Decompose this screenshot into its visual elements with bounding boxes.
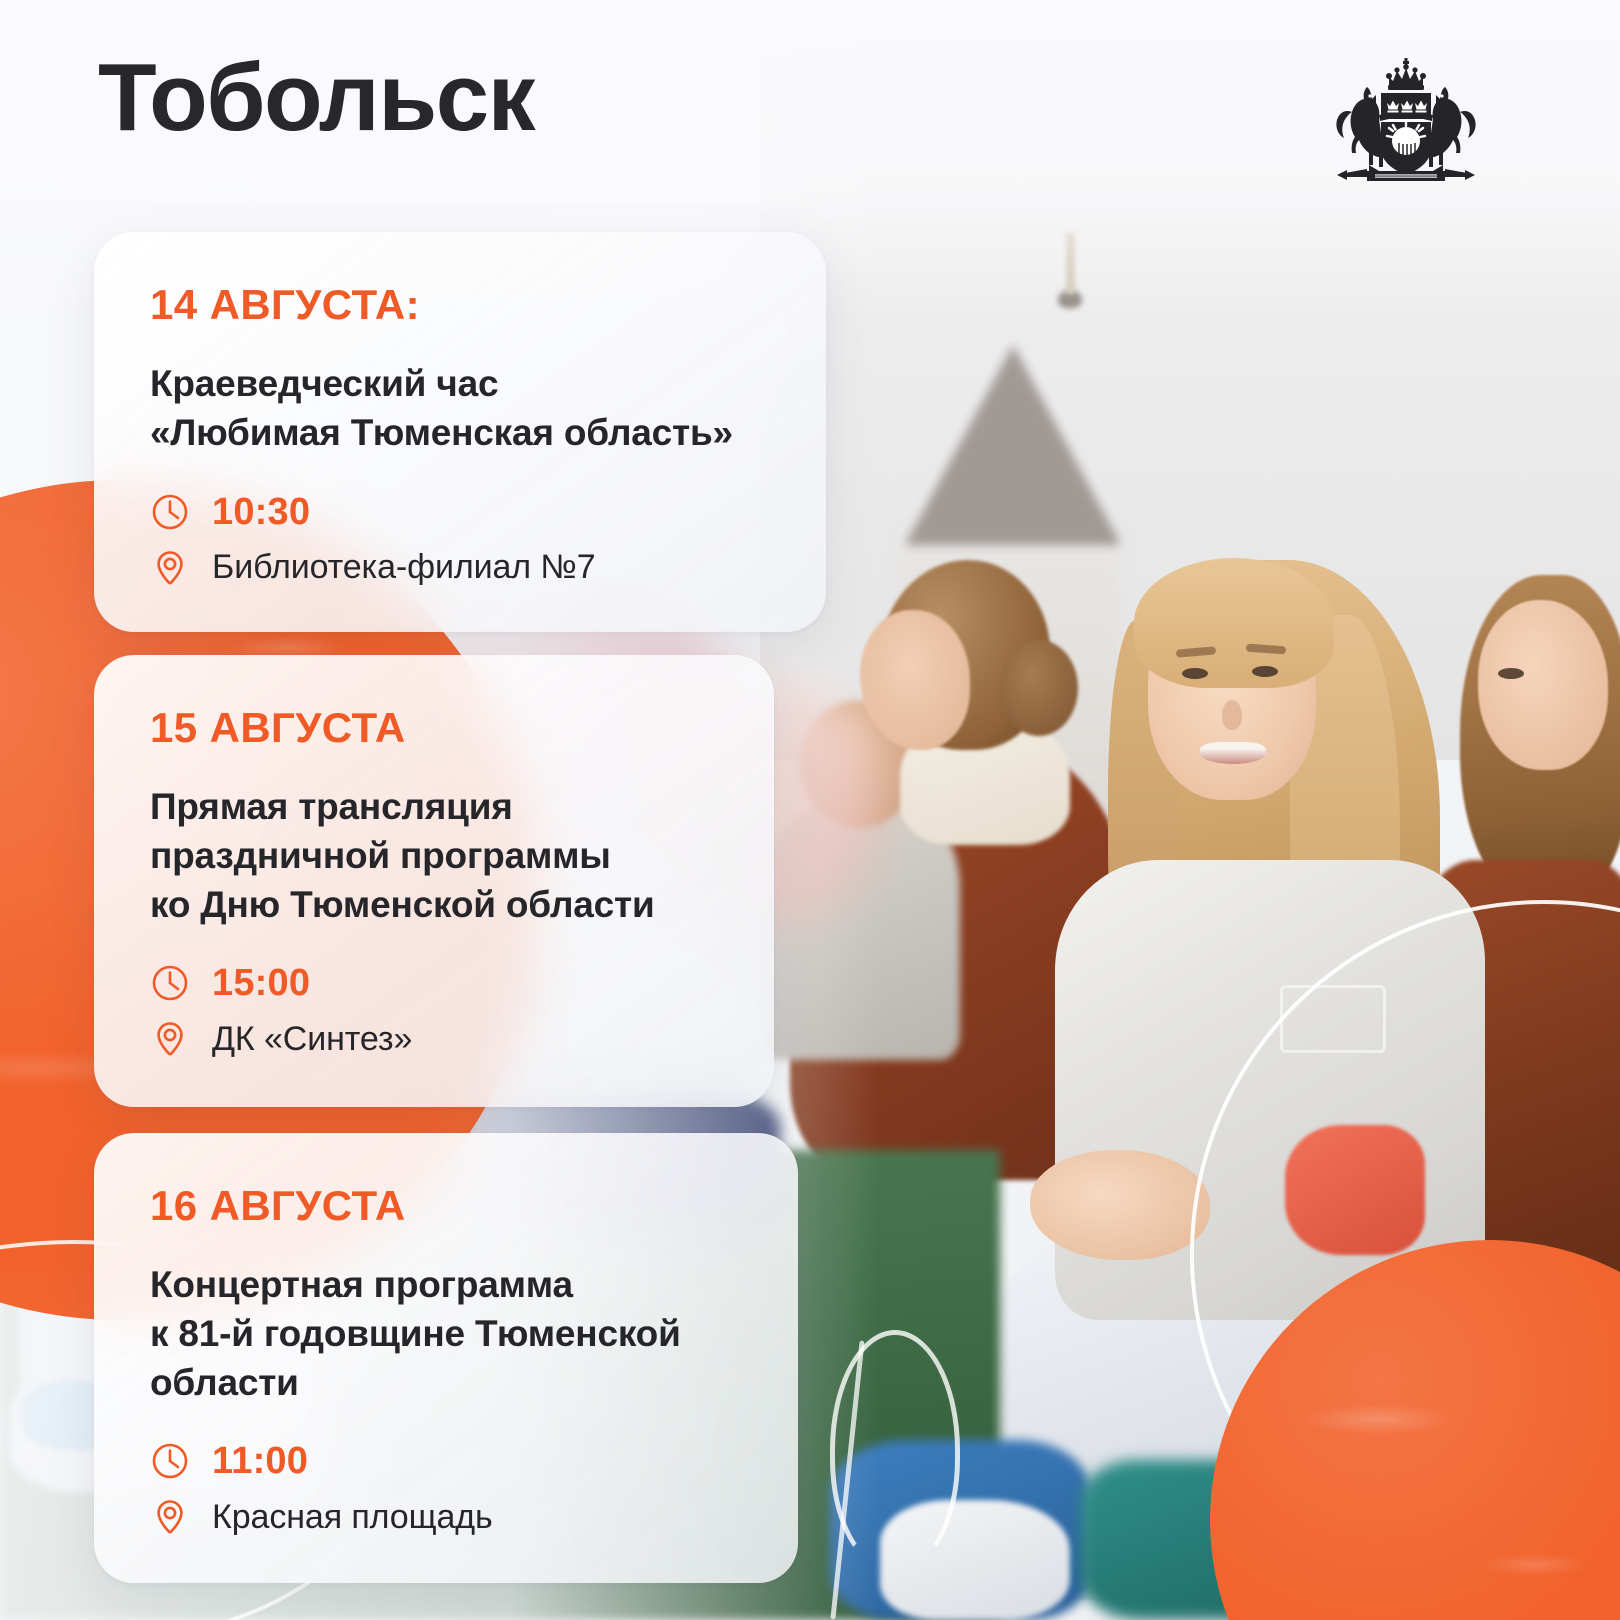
map-pin-icon (150, 1019, 190, 1059)
event-card[interactable]: 16 АВГУСТА Концертная программа к 81-й г… (94, 1133, 798, 1583)
event-title: Концертная программа к 81-й годовщине Тю… (150, 1261, 742, 1407)
event-place: ДК «Синтез» (212, 1020, 412, 1059)
clock-icon (150, 1441, 190, 1481)
clock-icon (150, 963, 190, 1003)
poster-root: Тобольск (0, 0, 1620, 1620)
event-time: 15:00 (212, 964, 310, 1002)
coat-of-arms-tyumen-oblast (1327, 57, 1485, 189)
event-date: 15 АВГУСТА (150, 707, 718, 749)
event-place-row: ДК «Синтез» (150, 1019, 718, 1059)
event-card[interactable]: 14 АВГУСТА: Краеведческий час «Любимая Т… (94, 232, 826, 632)
event-time-row: 11:00 (150, 1441, 742, 1481)
event-time-row: 15:00 (150, 963, 718, 1003)
event-time: 10:30 (212, 493, 310, 531)
event-place: Библиотека-филиал №7 (212, 548, 596, 587)
map-pin-icon (150, 1497, 190, 1537)
event-place-row: Библиотека-филиал №7 (150, 548, 770, 588)
event-card[interactable]: 15 АВГУСТА Прямая трансляция праздничной… (94, 655, 774, 1107)
event-place-row: Красная площадь (150, 1497, 742, 1537)
event-date: 14 АВГУСТА: (150, 284, 770, 326)
clock-icon (150, 492, 190, 532)
event-date: 16 АВГУСТА (150, 1185, 742, 1227)
event-title: Краеведческий час «Любимая Тюменская обл… (150, 360, 770, 458)
header: Тобольск (0, 0, 1620, 215)
event-place: Красная площадь (212, 1498, 493, 1537)
event-time-row: 10:30 (150, 492, 770, 532)
event-time: 11:00 (212, 1442, 308, 1480)
map-pin-icon (150, 548, 190, 588)
event-cards: 14 АВГУСТА: Краеведческий час «Любимая Т… (0, 0, 1620, 1620)
page-title: Тобольск (98, 48, 534, 149)
event-title: Прямая трансляция праздничной программы … (150, 783, 718, 929)
